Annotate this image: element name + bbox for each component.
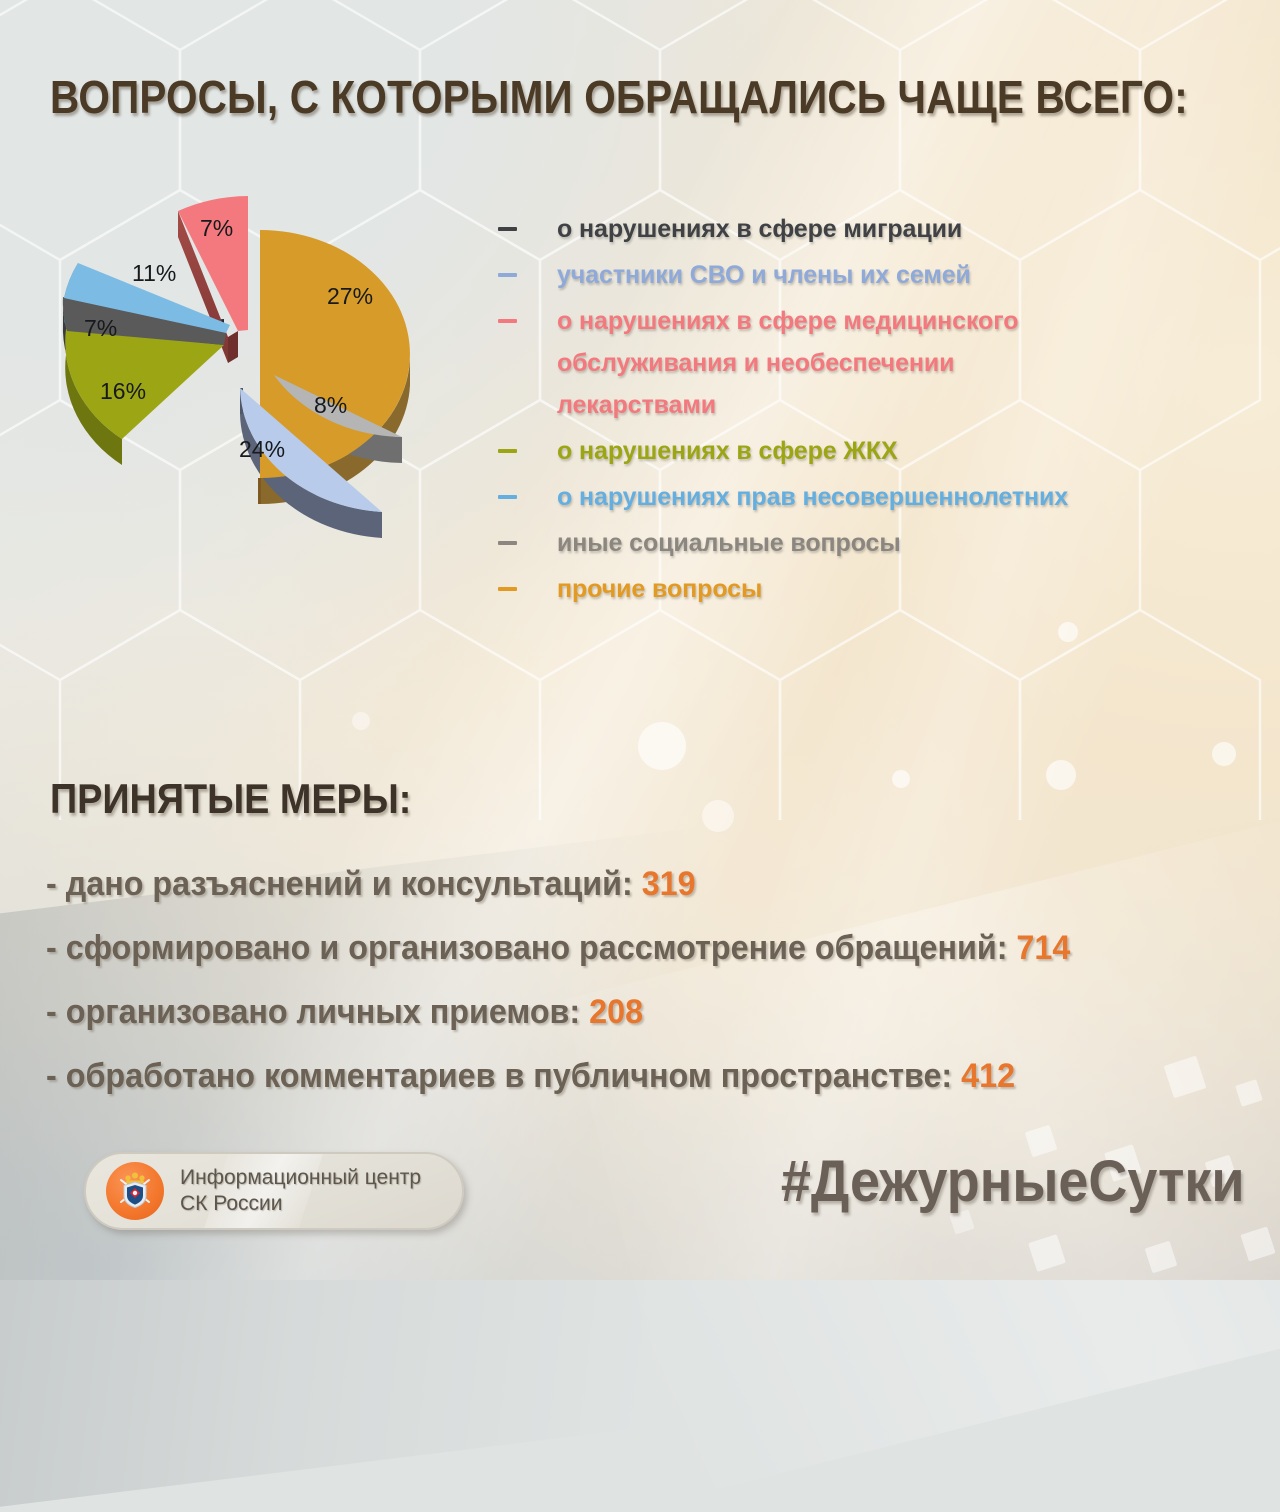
measures-heading: ПРИНЯТЫЕ МЕРЫ: bbox=[50, 775, 411, 823]
measures-list: - дано разъяснений и консультаций: 319 -… bbox=[46, 852, 1261, 1108]
pie-chart: 27% 8% 24% 16% 7% 11% 7% bbox=[52, 185, 472, 540]
legend-item-other-questions[interactable]: прочие вопросы bbox=[498, 568, 1238, 610]
legend-item-other-social[interactable]: иные социальные вопросы bbox=[498, 522, 1238, 564]
measure-label-comments: - обработано комментариев в публичном пр… bbox=[46, 1057, 961, 1095]
legend-label-medical-line3: лекарствами bbox=[557, 384, 1018, 426]
legend-dash-other-questions bbox=[498, 587, 517, 591]
measure-label-clarifications: - дано разъяснений и консультаций: bbox=[46, 865, 642, 903]
page-title: ВОПРОСЫ, С КОТОРЫМИ ОБРАЩАЛИСЬ ЧАЩЕ ВСЕГ… bbox=[50, 70, 1188, 124]
measure-value-appeals: 714 bbox=[1016, 929, 1070, 967]
legend-dash-medical bbox=[498, 319, 517, 323]
measure-row-comments: - обработано комментариев в публичном пр… bbox=[46, 1044, 1200, 1108]
legend-label-medical-line2: обслуживания и необеспечении bbox=[557, 342, 1018, 384]
legend-dash-other-social bbox=[498, 541, 517, 545]
chart-legend: о нарушениях в сфере миграции участники … bbox=[498, 208, 1238, 614]
badge-line-2: СК России bbox=[180, 1191, 421, 1217]
legend-label-other-social: иные социальные вопросы bbox=[557, 522, 901, 564]
legend-item-minors[interactable]: о нарушениях прав несовершеннолетних bbox=[498, 476, 1238, 518]
legend-label-other-questions: прочие вопросы bbox=[557, 568, 762, 610]
legend-dash-minors bbox=[498, 495, 517, 499]
measure-value-receptions: 208 bbox=[589, 993, 643, 1031]
shield-swords-icon bbox=[113, 1169, 157, 1213]
legend-dash-housing bbox=[498, 449, 517, 453]
legend-dash-svo bbox=[498, 273, 517, 277]
legend-label-housing: о нарушениях в сфере ЖКХ bbox=[557, 430, 898, 472]
sk-rossii-emblem-icon bbox=[106, 1162, 164, 1220]
organization-badge[interactable]: Информационный центр СК России bbox=[84, 1152, 464, 1230]
measure-value-comments: 412 bbox=[961, 1057, 1015, 1095]
badge-text: Информационный центр СК России bbox=[180, 1165, 421, 1217]
legend-label-svo: участники СВО и члены их семей bbox=[557, 254, 971, 296]
legend-label-migration: о нарушениях в сфере миграции bbox=[557, 208, 962, 250]
measure-row-receptions: - организовано личных приемов: 208 bbox=[46, 980, 1200, 1044]
legend-label-medical: о нарушениях в сфере медицинского обслуж… bbox=[557, 300, 1018, 426]
legend-label-medical-line1: о нарушениях в сфере медицинского bbox=[557, 300, 1018, 342]
measure-row-clarifications: - дано разъяснений и консультаций: 319 bbox=[46, 852, 1200, 916]
pie-chart-svg bbox=[52, 185, 472, 540]
legend-label-minors: о нарушениях прав несовершеннолетних bbox=[557, 476, 1068, 518]
hashtag: #ДежурныеСутки bbox=[781, 1148, 1245, 1215]
measure-label-receptions: - организовано личных приемов: bbox=[46, 993, 589, 1031]
legend-item-medical[interactable]: о нарушениях в сфере медицинского обслуж… bbox=[498, 300, 1238, 426]
measure-value-clarifications: 319 bbox=[642, 865, 696, 903]
legend-item-housing[interactable]: о нарушениях в сфере ЖКХ bbox=[498, 430, 1238, 472]
legend-item-migration[interactable]: о нарушениях в сфере миграции bbox=[498, 208, 1238, 250]
legend-item-svo[interactable]: участники СВО и члены их семей bbox=[498, 254, 1238, 296]
measure-label-appeals: - сформировано и организовано рассмотрен… bbox=[46, 929, 1016, 967]
measure-row-appeals: - сформировано и организовано рассмотрен… bbox=[46, 916, 1200, 980]
legend-dash-migration bbox=[498, 227, 517, 231]
badge-line-1: Информационный центр bbox=[180, 1165, 421, 1191]
